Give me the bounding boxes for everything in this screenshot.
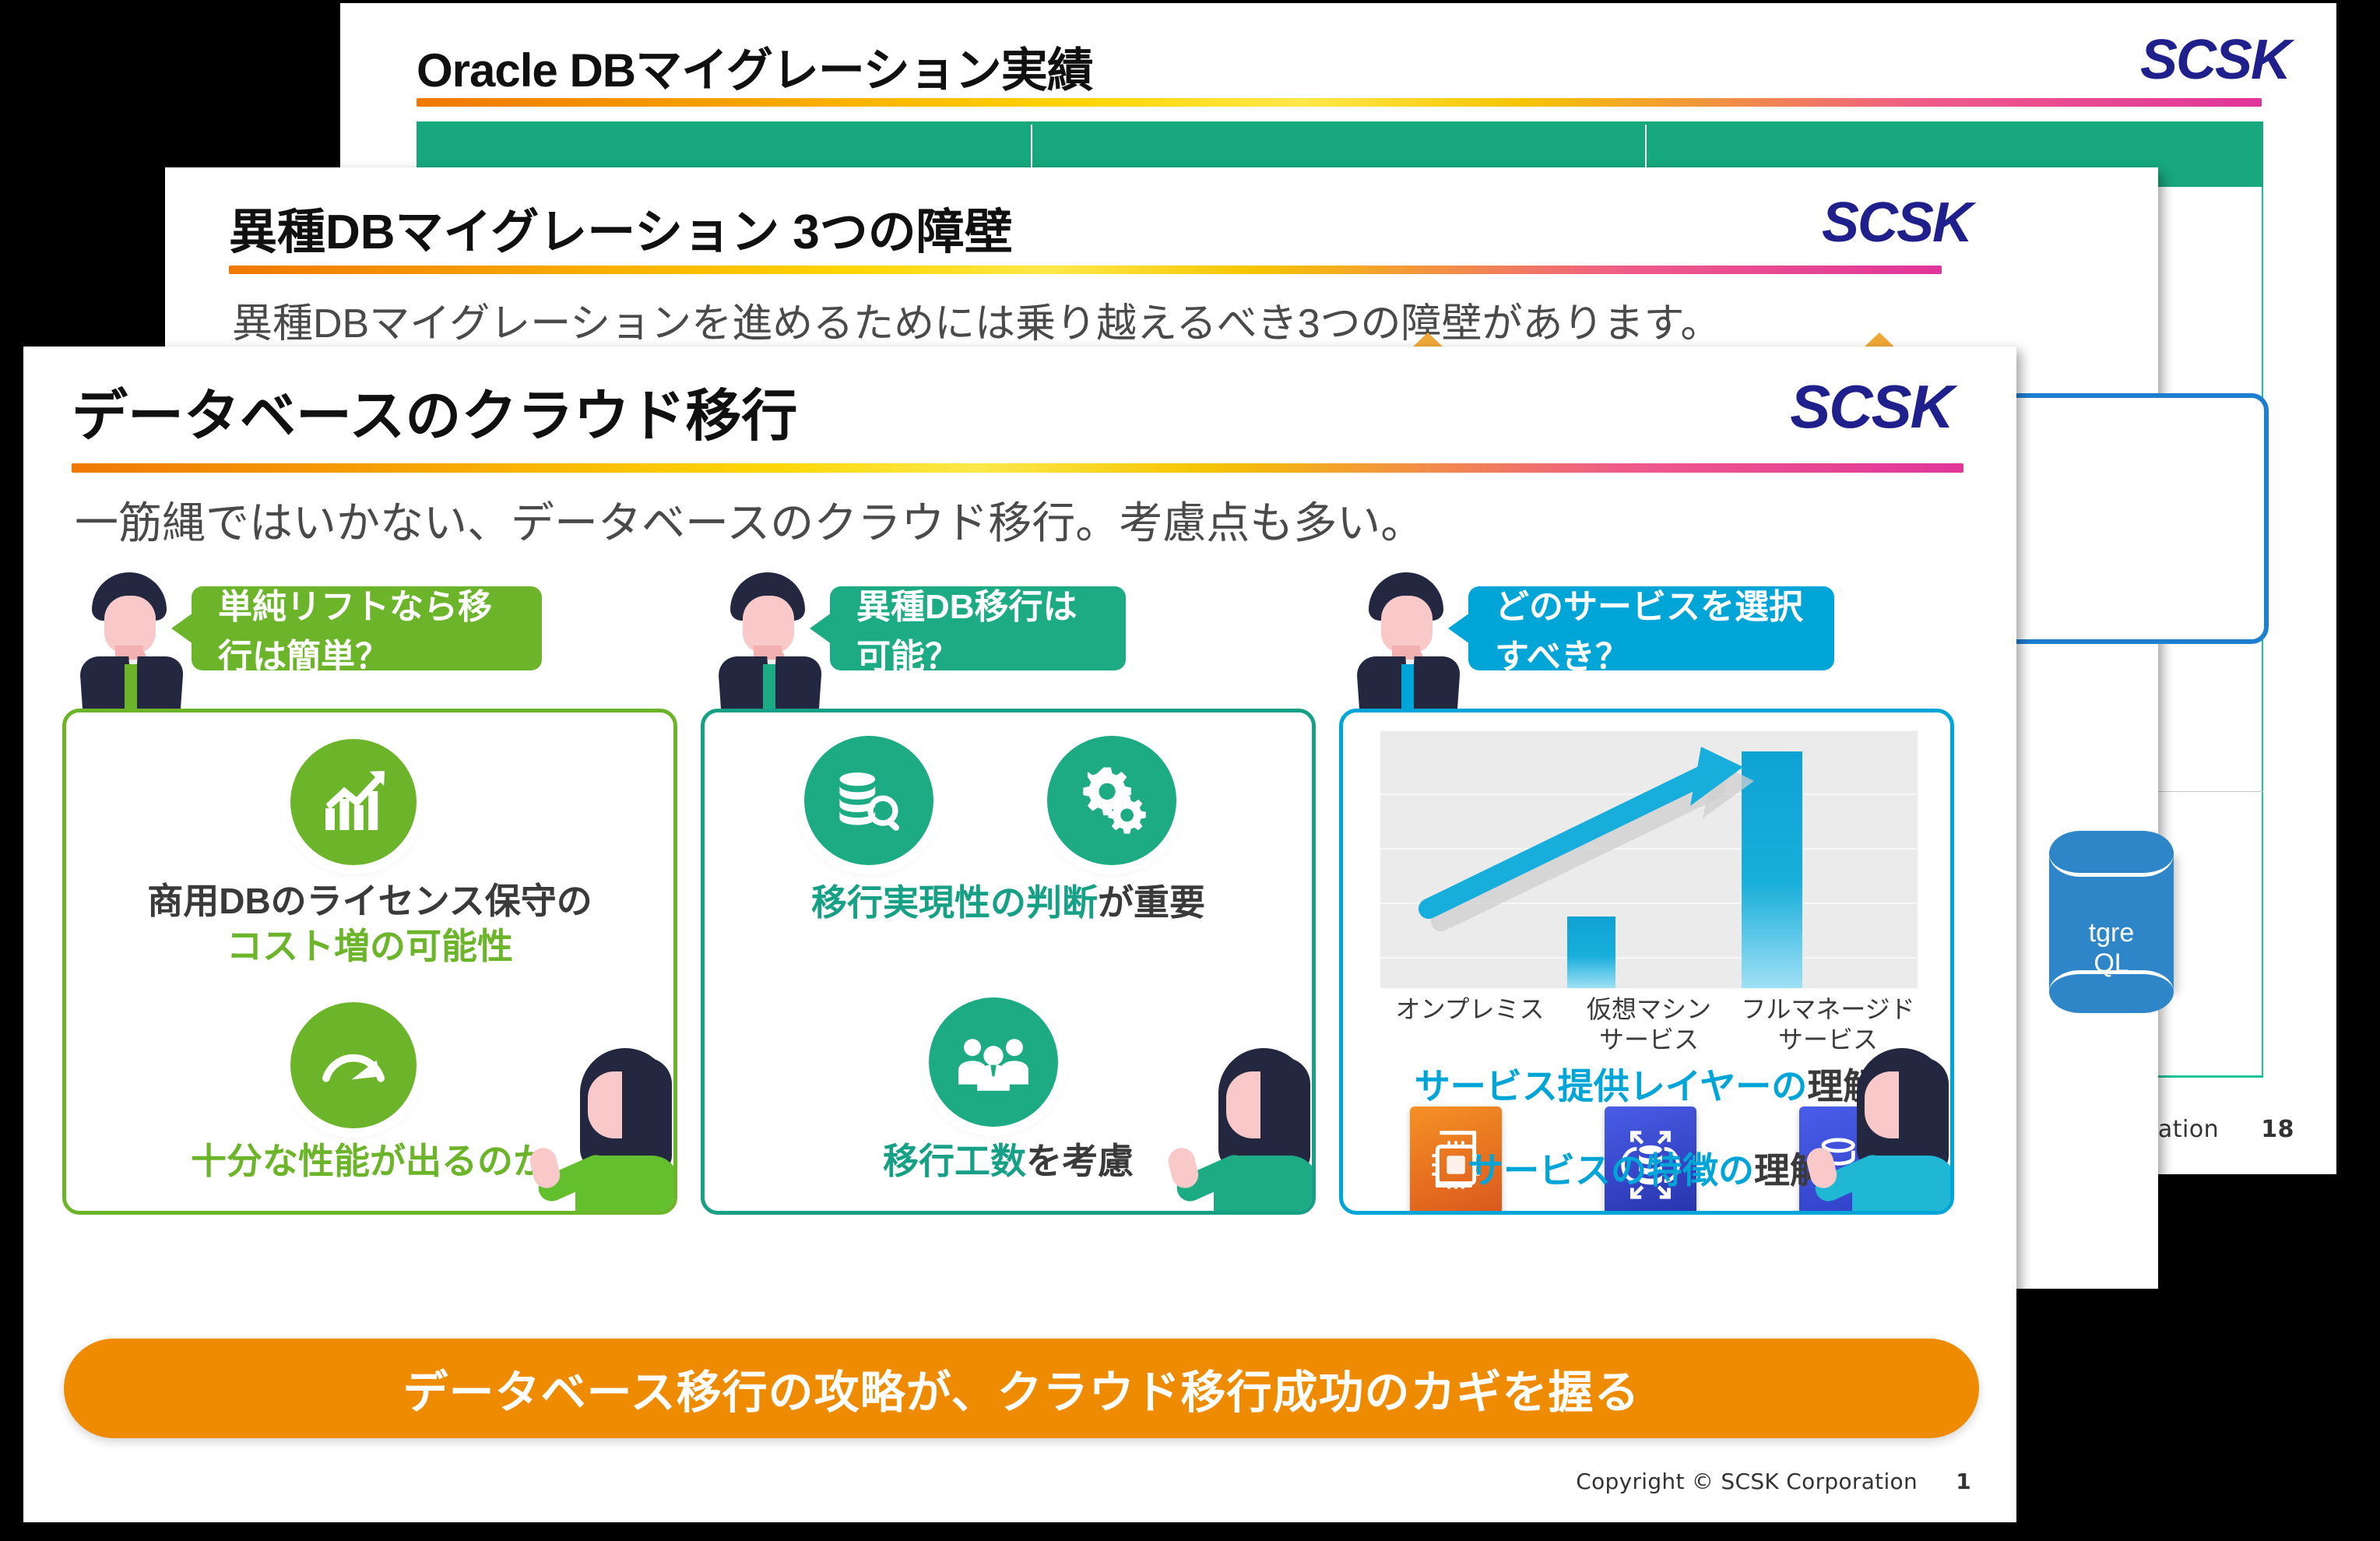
card-caption-top: 商用DBのライセンス保守の コスト増の可能性 <box>66 879 673 969</box>
service-layer-bar-chart <box>1380 731 1918 988</box>
gears-icon <box>1047 736 1176 865</box>
title-divider-gradient <box>72 463 1963 473</box>
scsk-logo: SCSK <box>1822 191 1971 255</box>
db-label-line: tgre <box>2049 918 2174 948</box>
x-tick-label: 仮想マシン <box>1587 995 1711 1023</box>
businessman-avatar-blue <box>1352 572 1461 716</box>
conclusion-banner: データベース移行の攻略が、クラウド移行成功のカギを握る <box>64 1339 1979 1438</box>
presenter-avatar-teal <box>1170 1048 1316 1215</box>
footer-page-number: 1 <box>1956 1469 1971 1494</box>
page-title: データベースのクラウド移行 <box>72 370 797 452</box>
x-tick-label: サービス <box>1599 1026 1699 1054</box>
speedometer-icon <box>290 1002 417 1128</box>
footer-page-number: 18 <box>2261 1116 2294 1143</box>
speech-bubble: 単純リフトなら移行は簡単？ <box>192 586 542 670</box>
footer: Copyright © SCSK Corporation 1 <box>1576 1469 1971 1494</box>
x-tick-label: フルマネージド <box>1741 995 1914 1023</box>
page-title: 異種DBマイグレーション 3つの障壁 <box>229 192 1013 262</box>
title-divider-gradient <box>229 266 1942 274</box>
postgresql-database-icon: tgre QL <box>2049 831 2174 1010</box>
card-caption-top: 移行実現性の判断が重要 <box>705 881 1312 926</box>
chart-x-axis-labels: オンプレミス 仮想マシン サービス フルマネージド サービス <box>1380 994 1918 1055</box>
bar-chart-growth-icon <box>290 739 417 865</box>
barrier-card[interactable]: オンプレミス 仮想マシン サービス フルマネージド サービス サービス提供レイヤ… <box>1339 709 1954 1215</box>
db-label-line: QL <box>2049 948 2174 979</box>
speech-bubble: 異種DB移行は可能？ <box>830 586 1126 670</box>
businessman-avatar-teal <box>713 572 822 716</box>
presenter-avatar-green <box>532 1048 677 1215</box>
page-subtitle: 異種DBマイグレーションを進めるためには乗り越えるべき3つの障壁があります。 <box>232 290 1721 349</box>
growth-arrow-icon <box>1380 731 1918 988</box>
presenter-avatar-blue <box>1809 1048 1954 1215</box>
page-subtitle: 一筋縄ではいかない、データベースのクラウド移行。考慮点も多い。 <box>75 488 1424 551</box>
people-group-icon <box>929 997 1058 1127</box>
title-divider-gradient <box>417 98 2262 107</box>
page-title: Oracle DBマイグレーション実績 <box>417 33 1093 100</box>
barrier-card[interactable]: 商用DBのライセンス保守の コスト増の可能性 十分な性能が出るのか <box>62 709 677 1215</box>
conclusion-banner-text: データベース移行の攻略が、クラウド移行成功のカギを握る <box>403 1356 1640 1421</box>
screenshot-stage: Oracle DBマイグレーション実績 SCSK より、 つながる 操作で テム… <box>0 0 2380 1541</box>
database-search-icon <box>804 736 933 865</box>
slide-database-cloud-migration[interactable]: データベースのクラウド移行 SCSK 一筋縄ではいかない、データベースのクラウド… <box>23 347 2016 1522</box>
speech-bubble: どのサービスを選択すべき？ <box>1468 586 1834 670</box>
businessman-avatar-green <box>75 572 184 716</box>
x-tick-label: オンプレミス <box>1395 995 1544 1023</box>
footer-copyright: Copyright © SCSK Corporation <box>1576 1469 1918 1494</box>
scsk-logo: SCSK <box>1790 371 1953 442</box>
barrier-card[interactable]: 移行実現性の判断が重要 移行工数を考慮 <box>701 709 1316 1215</box>
scsk-logo: SCSK <box>2140 28 2290 92</box>
